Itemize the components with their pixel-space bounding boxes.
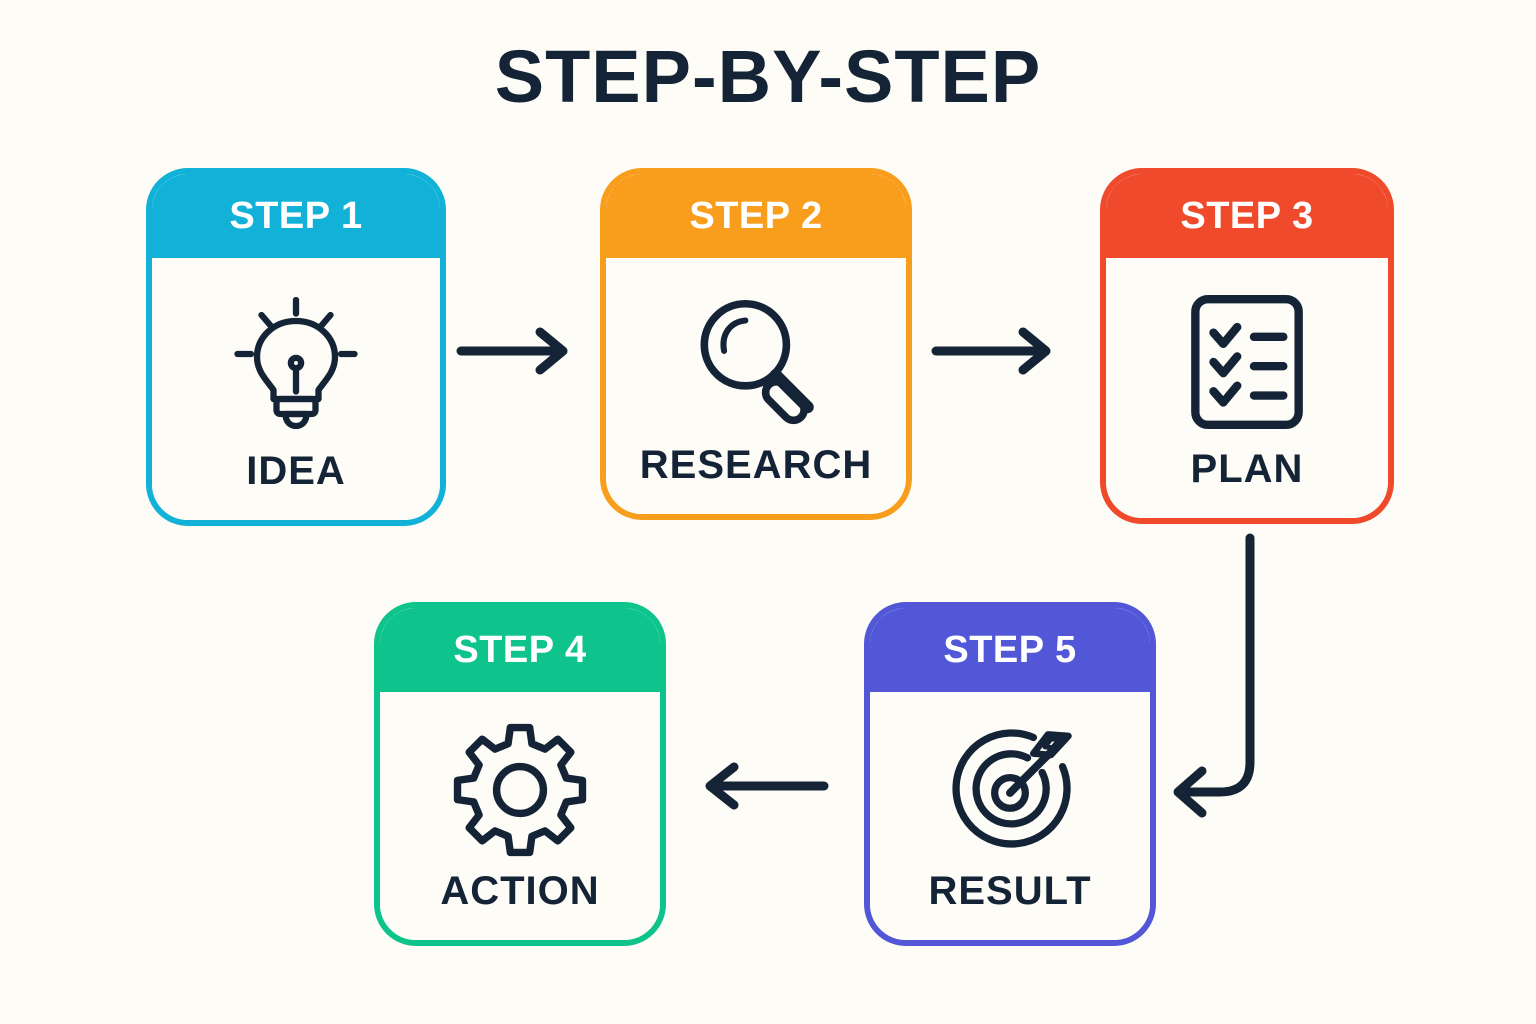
- step-card-2-body: RESEARCH: [606, 258, 906, 514]
- step-card-1-body: IDEA: [152, 258, 440, 520]
- infographic-canvas: STEP-BY-STEP STEP 1: [0, 0, 1536, 1024]
- step-card-4-body: ACTION: [380, 692, 660, 940]
- step-card-3-body: PLAN: [1106, 258, 1388, 518]
- step-card-3-label: PLAN: [1191, 447, 1304, 518]
- arrow-left-icon: [690, 755, 830, 817]
- step-card-3[interactable]: STEP 3 PLAN: [1100, 168, 1394, 524]
- arrow-right-icon: [930, 320, 1058, 382]
- step-card-2-label: RESEARCH: [640, 443, 872, 514]
- step-card-1[interactable]: STEP 1: [146, 168, 446, 526]
- page-title: STEP-BY-STEP: [0, 40, 1536, 114]
- step-card-2-header: STEP 2: [606, 174, 906, 258]
- gear-icon: [380, 710, 660, 869]
- step-card-5-label: RESULT: [928, 869, 1091, 940]
- target-arrow-icon: [870, 710, 1150, 869]
- step-card-4-label: ACTION: [440, 869, 599, 940]
- step-card-2[interactable]: STEP 2 RESEARCH: [600, 168, 912, 520]
- magnifying-glass-icon: [606, 276, 906, 443]
- step-card-1-header: STEP 1: [152, 174, 440, 258]
- lightbulb-icon: [152, 276, 440, 449]
- arrow-elbow-down-left-icon: [1150, 530, 1280, 820]
- step-card-5[interactable]: STEP 5 RESULT: [864, 602, 1156, 946]
- step-card-5-body: RESULT: [870, 692, 1150, 940]
- step-card-1-label: IDEA: [246, 449, 346, 520]
- arrow-right-icon: [455, 320, 575, 382]
- checklist-icon: [1106, 276, 1388, 447]
- step-card-4-header: STEP 4: [380, 608, 660, 692]
- step-card-5-header: STEP 5: [870, 608, 1150, 692]
- step-card-4[interactable]: STEP 4 ACTION: [374, 602, 666, 946]
- step-card-3-header: STEP 3: [1106, 174, 1388, 258]
